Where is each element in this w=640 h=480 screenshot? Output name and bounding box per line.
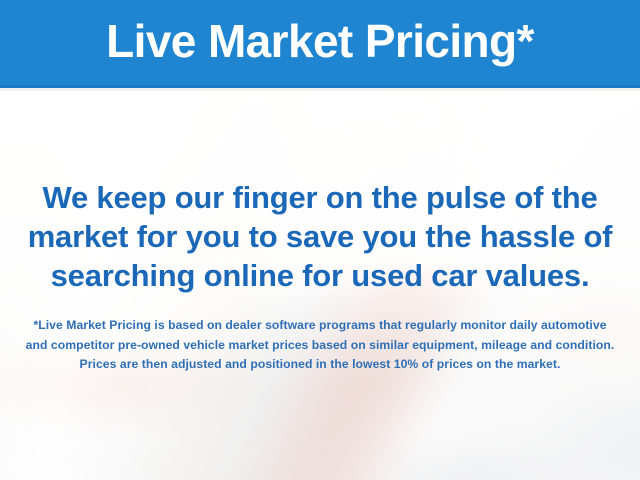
headline-text: We keep our finger on the pulse of the m… [20, 178, 620, 295]
header-banner: Live Market Pricing* [0, 0, 640, 88]
content-area: We keep our finger on the pulse of the m… [0, 91, 640, 480]
page-title: Live Market Pricing* [106, 18, 534, 68]
disclaimer-text: *Live Market Pricing is based on dealer … [22, 316, 618, 375]
live-market-pricing-promo-card: Live Market Pricing* We keep our finger … [0, 0, 640, 480]
